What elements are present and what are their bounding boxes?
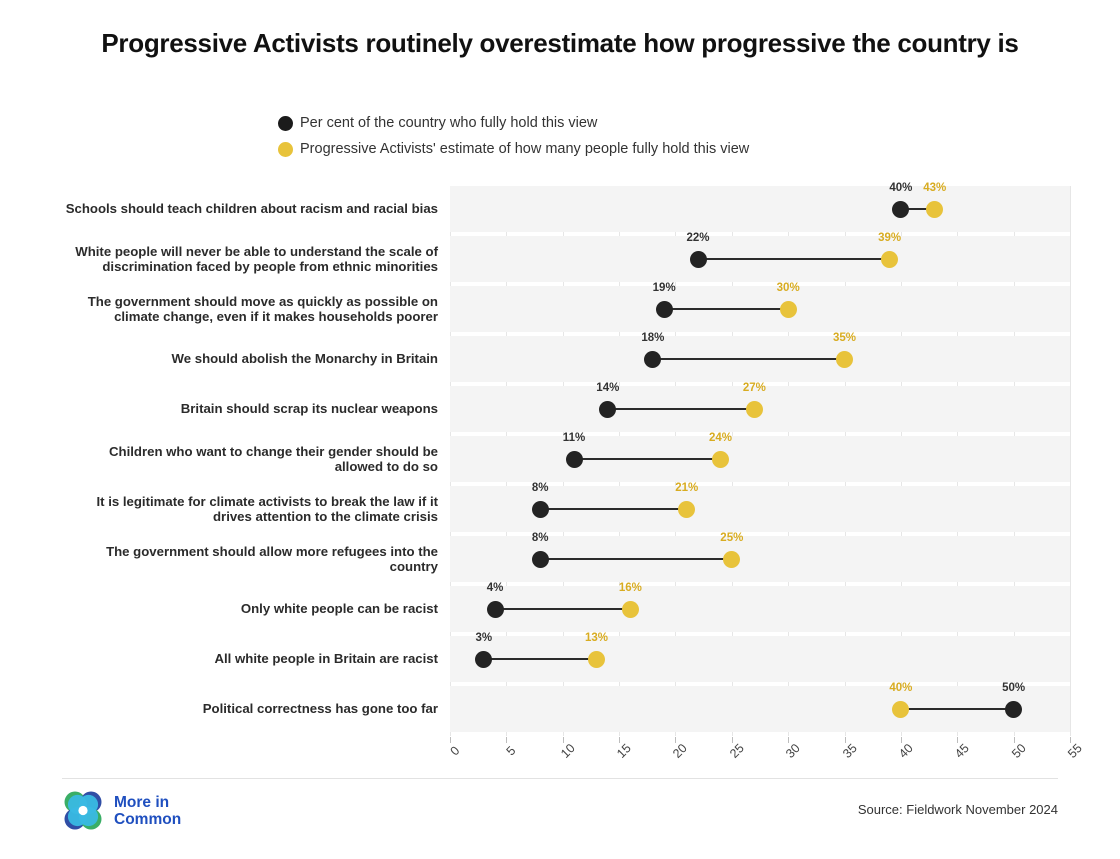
- data-label-black: 8%: [532, 532, 549, 544]
- gridline: [1070, 186, 1071, 736]
- data-label-yellow: 43%: [923, 182, 946, 194]
- data-point-black[interactable]: [475, 651, 492, 668]
- dumbbell-connector: [495, 608, 630, 611]
- category-label: White people will never be able to under…: [60, 244, 438, 275]
- data-label-yellow: 40%: [889, 682, 912, 694]
- legend-swatch-yellow-circle-icon: [278, 142, 293, 157]
- data-label-black: 11%: [563, 432, 585, 444]
- data-label-yellow: 24%: [709, 432, 732, 444]
- x-tick-mark: [450, 737, 451, 743]
- legend-label-estimate: Progressive Activists' estimate of how m…: [300, 141, 749, 157]
- data-point-yellow[interactable]: [881, 251, 898, 268]
- data-label-yellow: 39%: [878, 232, 901, 244]
- legend-label-country: Per cent of the country who fully hold t…: [300, 115, 597, 131]
- data-point-black[interactable]: [690, 251, 707, 268]
- x-tick-mark: [1014, 737, 1015, 743]
- x-tick-label: 0: [448, 744, 463, 759]
- x-tick-label: 10: [558, 741, 578, 761]
- data-point-yellow[interactable]: [622, 601, 639, 618]
- x-tick-label: 15: [614, 741, 634, 761]
- x-axis: 0510152025303540455055: [450, 737, 1070, 783]
- x-tick-mark: [732, 737, 733, 743]
- legend-item-country: Per cent of the country who fully hold t…: [278, 110, 749, 136]
- x-tick-mark: [957, 737, 958, 743]
- x-tick-mark: [619, 737, 620, 743]
- x-tick-label: 5: [504, 744, 519, 759]
- data-label-black: 19%: [653, 282, 676, 294]
- x-tick-mark: [845, 737, 846, 743]
- category-label: Schools should teach children about raci…: [60, 201, 438, 217]
- legend-swatch-black-circle-icon: [278, 116, 293, 131]
- dumbbell-connector: [653, 358, 845, 361]
- data-point-yellow[interactable]: [926, 201, 943, 218]
- x-tick-mark: [506, 737, 507, 743]
- dumbbell-connector: [664, 308, 788, 311]
- data-label-yellow: 21%: [675, 482, 698, 494]
- dumbbell-connector: [698, 258, 890, 261]
- x-tick-label: 50: [1009, 741, 1029, 761]
- dumbbell-connector: [540, 558, 732, 561]
- data-label-yellow: 25%: [720, 532, 743, 544]
- data-point-black[interactable]: [892, 201, 909, 218]
- data-point-yellow[interactable]: [892, 701, 909, 718]
- x-tick-label: 30: [783, 741, 803, 761]
- data-label-black: 3%: [476, 632, 493, 644]
- data-point-yellow[interactable]: [588, 651, 605, 668]
- page-title: Progressive Activists routinely overesti…: [70, 28, 1050, 59]
- data-point-black[interactable]: [599, 401, 616, 418]
- x-tick-mark: [563, 737, 564, 743]
- category-label: The government should allow more refugee…: [60, 544, 438, 575]
- category-label: Children who want to change their gender…: [60, 444, 438, 475]
- data-label-black: 40%: [889, 182, 912, 194]
- data-point-yellow[interactable]: [746, 401, 763, 418]
- legend-item-estimate: Progressive Activists' estimate of how m…: [278, 136, 749, 162]
- category-axis-labels: Schools should teach children about raci…: [60, 186, 438, 736]
- data-point-black[interactable]: [487, 601, 504, 618]
- dumbbell-connector: [608, 408, 755, 411]
- x-tick-mark: [1070, 737, 1071, 743]
- chart-plot-area: 43%40%39%22%30%19%35%18%27%14%24%11%21%8…: [450, 186, 1070, 736]
- data-point-black[interactable]: [1005, 701, 1022, 718]
- data-label-yellow: 30%: [777, 282, 800, 294]
- category-label: Britain should scrap its nuclear weapons: [60, 401, 438, 417]
- data-label-yellow: 16%: [619, 582, 642, 594]
- dumbbell-connector: [540, 508, 687, 511]
- data-point-black[interactable]: [532, 501, 549, 518]
- category-label: Political correctness has gone too far: [60, 701, 438, 717]
- category-label: Only white people can be racist: [60, 601, 438, 617]
- data-point-yellow[interactable]: [836, 351, 853, 368]
- x-tick-label: 55: [1065, 741, 1085, 761]
- x-tick-mark: [788, 737, 789, 743]
- data-point-yellow[interactable]: [723, 551, 740, 568]
- category-label: We should abolish the Monarchy in Britai…: [60, 351, 438, 367]
- data-point-black[interactable]: [644, 351, 661, 368]
- category-label: The government should move as quickly as…: [60, 294, 438, 325]
- data-label-black: 18%: [641, 332, 664, 344]
- x-tick-label: 20: [671, 741, 691, 761]
- data-label-yellow: 13%: [585, 632, 608, 644]
- footer-divider: [62, 778, 1058, 779]
- chart-row-band: [450, 186, 1070, 232]
- chart-legend: Per cent of the country who fully hold t…: [278, 110, 749, 162]
- brand-logo: More in Common: [62, 791, 181, 831]
- dumbbell-connector: [484, 658, 597, 661]
- data-point-black[interactable]: [656, 301, 673, 318]
- data-label-yellow: 35%: [833, 332, 856, 344]
- x-tick-label: 35: [840, 741, 860, 761]
- data-label-black: 14%: [596, 382, 619, 394]
- x-tick-label: 45: [952, 741, 972, 761]
- dumbbell-connector: [574, 458, 721, 461]
- category-label: All white people in Britain are racist: [60, 651, 438, 667]
- category-label: It is legitimate for climate activists t…: [60, 494, 438, 525]
- x-tick-mark: [675, 737, 676, 743]
- data-point-black[interactable]: [532, 551, 549, 568]
- data-point-black[interactable]: [566, 451, 583, 468]
- x-tick-label: 40: [896, 741, 916, 761]
- data-label-black: 8%: [532, 482, 549, 494]
- chart-row-band: [450, 436, 1070, 482]
- dumbbell-connector: [901, 708, 1014, 711]
- logo-wordmark: More in Common: [114, 794, 181, 828]
- data-label-black: 50%: [1002, 682, 1025, 694]
- x-tick-label: 25: [727, 741, 747, 761]
- more-in-common-logo-icon: [62, 791, 104, 831]
- data-label-black: 4%: [487, 582, 504, 594]
- x-tick-mark: [901, 737, 902, 743]
- data-label-black: 22%: [686, 232, 709, 244]
- data-point-yellow[interactable]: [678, 501, 695, 518]
- data-point-yellow[interactable]: [712, 451, 729, 468]
- source-note: Source: Fieldwork November 2024: [858, 802, 1058, 817]
- data-label-yellow: 27%: [743, 382, 766, 394]
- data-point-yellow[interactable]: [780, 301, 797, 318]
